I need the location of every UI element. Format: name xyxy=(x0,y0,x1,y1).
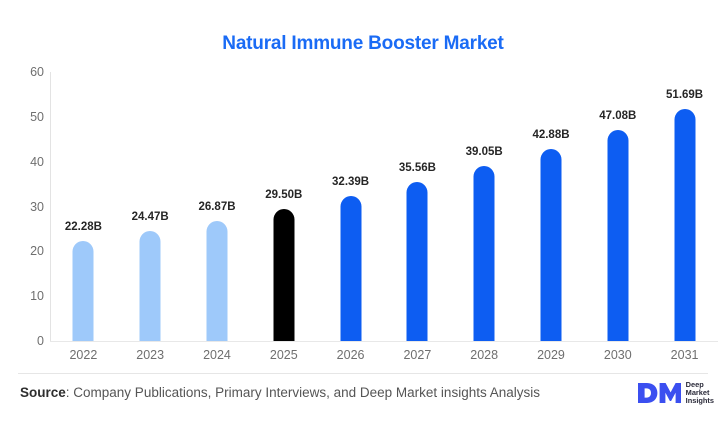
bar-2031[interactable] xyxy=(674,109,695,341)
y-axis-tick-50: 50 xyxy=(4,110,44,124)
bar-2022[interactable] xyxy=(73,241,94,341)
x-axis-tick-2030: 2030 xyxy=(584,348,651,362)
bar-value-label-2022: 22.28B xyxy=(65,221,102,233)
x-axis-tick-2027: 2027 xyxy=(384,348,451,362)
bar-2025[interactable] xyxy=(273,209,294,341)
bar-value-label-2028: 39.05B xyxy=(466,146,503,158)
source-text: : Company Publications, Primary Intervie… xyxy=(66,385,540,400)
x-axis-tick-2028: 2028 xyxy=(451,348,518,362)
bar-2026[interactable] xyxy=(340,196,361,341)
x-axis-tick-labels: 2022202320242025202620272028202920302031 xyxy=(50,348,718,368)
source-label: Source xyxy=(20,385,66,400)
bar-value-label-2024: 26.87B xyxy=(198,201,235,213)
bar-group-2031: 51.69B xyxy=(651,72,718,341)
bar-value-label-2026: 32.39B xyxy=(332,176,369,188)
x-axis-tick-2024: 2024 xyxy=(184,348,251,362)
bar-2023[interactable] xyxy=(140,231,161,341)
dm-monogram-icon xyxy=(637,381,681,405)
x-axis-tick-2031: 2031 xyxy=(651,348,718,362)
bar-2027[interactable] xyxy=(407,182,428,341)
y-axis-tick-0: 0 xyxy=(4,334,44,348)
bar-2028[interactable] xyxy=(474,166,495,341)
bar-group-2023: 24.47B xyxy=(117,72,184,341)
bar-group-2028: 39.05B xyxy=(451,72,518,341)
source-note: Source: Company Publications, Primary In… xyxy=(20,385,540,400)
y-axis-tick-40: 40 xyxy=(4,155,44,169)
bar-2029[interactable] xyxy=(540,149,561,341)
bar-group-2025: 29.50B xyxy=(250,72,317,341)
bar-value-label-2023: 24.47B xyxy=(132,211,169,223)
bar-group-2027: 35.56B xyxy=(384,72,451,341)
bar-value-label-2030: 47.08B xyxy=(599,110,636,122)
bar-2030[interactable] xyxy=(607,130,628,341)
y-axis-tick-20: 20 xyxy=(4,244,44,258)
plot-area: 22.28B24.47B26.87B29.50B32.39B35.56B39.0… xyxy=(50,72,718,341)
bar-value-label-2031: 51.69B xyxy=(666,89,703,101)
bar-value-label-2025: 29.50B xyxy=(265,189,302,201)
x-axis-line xyxy=(50,341,718,342)
logo-wordmark: Deep Market Insights xyxy=(686,381,714,406)
x-axis-tick-2025: 2025 xyxy=(250,348,317,362)
y-axis-tick-60: 60 xyxy=(4,65,44,79)
bar-group-2022: 22.28B xyxy=(50,72,117,341)
x-axis-tick-2029: 2029 xyxy=(518,348,585,362)
bar-group-2030: 47.08B xyxy=(584,72,651,341)
bar-group-2024: 26.87B xyxy=(184,72,251,341)
bar-group-2026: 32.39B xyxy=(317,72,384,341)
bar-2024[interactable] xyxy=(206,221,227,341)
x-axis-tick-2022: 2022 xyxy=(50,348,117,362)
footer-divider xyxy=(18,373,708,374)
bar-group-2029: 42.88B xyxy=(518,72,585,341)
y-axis-tick-labels: 0102030405060 xyxy=(0,0,44,443)
page-title: Natural Immune Booster Market xyxy=(0,33,726,55)
x-axis-tick-2026: 2026 xyxy=(317,348,384,362)
deep-market-insights-logo: Deep Market Insights xyxy=(637,378,714,408)
y-axis-tick-10: 10 xyxy=(4,289,44,303)
chart-figure: Natural Immune Booster Market 0102030405… xyxy=(0,0,726,443)
y-axis-tick-30: 30 xyxy=(4,200,44,214)
logo-line-3: Insights xyxy=(686,397,714,405)
x-axis-tick-2023: 2023 xyxy=(117,348,184,362)
bar-value-label-2027: 35.56B xyxy=(399,162,436,174)
bar-value-label-2029: 42.88B xyxy=(532,129,569,141)
